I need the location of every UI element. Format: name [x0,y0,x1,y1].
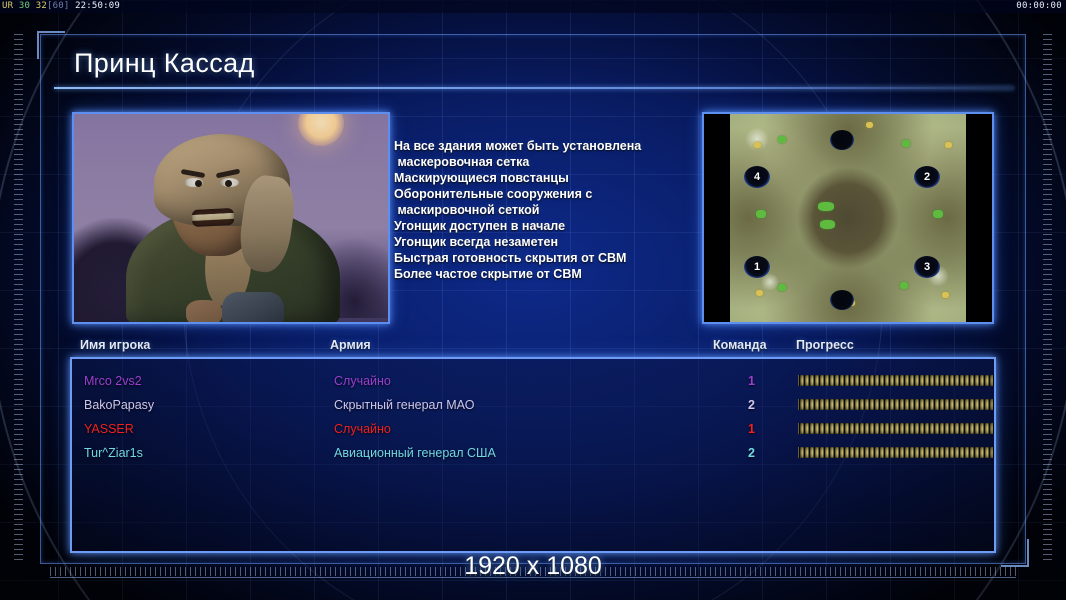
map-start-position-2: 2 [914,166,940,188]
portrait-shading [74,114,388,322]
title-bar: Принц Кассад [46,40,1020,90]
player-team: 1 [748,417,755,441]
map-start-position-1: 1 [744,256,770,278]
table-row[interactable]: BakoPapasyСкрытный генерал МАО2 [72,393,994,417]
resolution-label: 1920 x 1080 [0,552,1066,581]
map-resource [942,292,949,298]
column-header-progress: Прогресс [796,338,854,352]
map-neutral-marker-1 [830,130,854,150]
player-name: BakoPapasy [84,393,154,417]
status-segment: 32 [36,1,47,11]
status-segment: 30 [19,1,36,11]
player-progress-bar [798,423,994,434]
map-resource [818,202,834,211]
table-row[interactable]: YASSERСлучайно1 [72,417,994,441]
column-header-team: Команда [713,338,767,352]
ruler-left [14,34,23,564]
player-table: Mrco 2vs2Случайно1BakoPapasyСкрытный ген… [70,357,996,553]
map-start-position-3: 3 [914,256,940,278]
media-row: На все здания может быть установлена мас… [70,112,996,328]
map-resource [900,282,908,289]
player-table-header: Имя игрока Армия Команда Прогресс [70,338,996,358]
status-segment: 22:50:09 [75,1,120,11]
player-army: Скрытный генерал МАО [334,393,474,417]
map-resource [820,220,835,229]
column-header-army: Армия [330,338,371,352]
map-letterbox-left [704,114,730,322]
status-bar: UR 30 32[60] 22:50:09 00:00:00 [0,0,1066,13]
map-start-position-4: 4 [744,166,770,188]
map-resource [756,290,763,296]
map-neutral-marker-2 [830,290,854,310]
player-name: Mrco 2vs2 [84,369,142,393]
player-name: Tur^Ziar1s [84,441,143,465]
map-resource [778,284,786,291]
map-resource [945,142,952,148]
title-divider [54,87,1014,89]
ruler-right [1043,34,1052,564]
map-resource [902,140,910,147]
map-preview: 4213 [702,112,994,324]
map-resource [866,122,873,128]
map-resource [778,136,786,143]
player-name: YASSER [84,417,134,441]
description-text: На все здания может быть установлена мас… [394,138,700,282]
page-title: Принц Кассад [74,48,255,79]
session-timer: 00:00:00 [1016,0,1062,13]
general-description: На все здания может быть установлена мас… [392,112,700,324]
status-segment: UR [2,1,19,11]
player-team: 2 [748,393,755,417]
player-team: 2 [748,441,755,465]
performance-readout: UR 30 32[60] 22:50:09 [2,0,120,13]
game-lobby-screen: Принц Кассад На все [0,0,1066,600]
map-resource [756,210,766,218]
table-row[interactable]: Tur^Ziar1sАвиационный генерал США2 [72,441,994,465]
player-progress-bar [798,399,994,410]
map-resource [754,142,761,148]
general-portrait [72,112,390,324]
player-army: Авиационный генерал США [334,441,496,465]
player-army: Случайно [334,417,391,441]
status-segment: [60] [47,1,75,11]
player-army: Случайно [334,369,391,393]
table-row[interactable]: Mrco 2vs2Случайно1 [72,369,994,393]
column-header-name: Имя игрока [80,338,150,352]
player-team: 1 [748,369,755,393]
map-letterbox-right [966,114,992,322]
player-progress-bar [798,447,994,458]
map-resource [933,210,943,218]
player-progress-bar [798,375,994,386]
